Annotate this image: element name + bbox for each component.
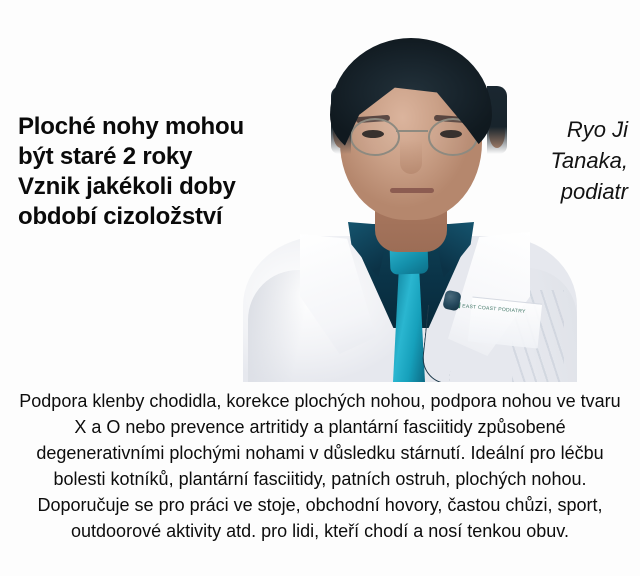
headline-line-1: Ploché nohy mohou <box>18 112 278 142</box>
byline-line-2: Tanaka, <box>448 145 628 176</box>
headline-line-2: být staré 2 roky <box>18 142 278 172</box>
eyeglasses-bridge <box>396 130 428 132</box>
description-paragraph: Podpora klenby chodidla, korekce plochýc… <box>14 388 626 544</box>
byline: Ryo Ji Tanaka, podiatr <box>448 114 628 207</box>
nose <box>400 140 422 174</box>
byline-line-1: Ryo Ji <box>448 114 628 145</box>
advertisement-card: EAST COAST PODIATRY Ploché nohy mohou bý… <box>0 0 640 576</box>
eyeglasses-lens-left <box>350 118 400 156</box>
byline-line-3: podiatr <box>448 176 628 207</box>
mouth <box>390 188 434 193</box>
headline-line-3: Vznik jakékoli doby <box>18 172 278 202</box>
headline-line-4: období cizoložství <box>18 202 278 232</box>
headline: Ploché nohy mohou být staré 2 roky Vznik… <box>18 112 278 232</box>
